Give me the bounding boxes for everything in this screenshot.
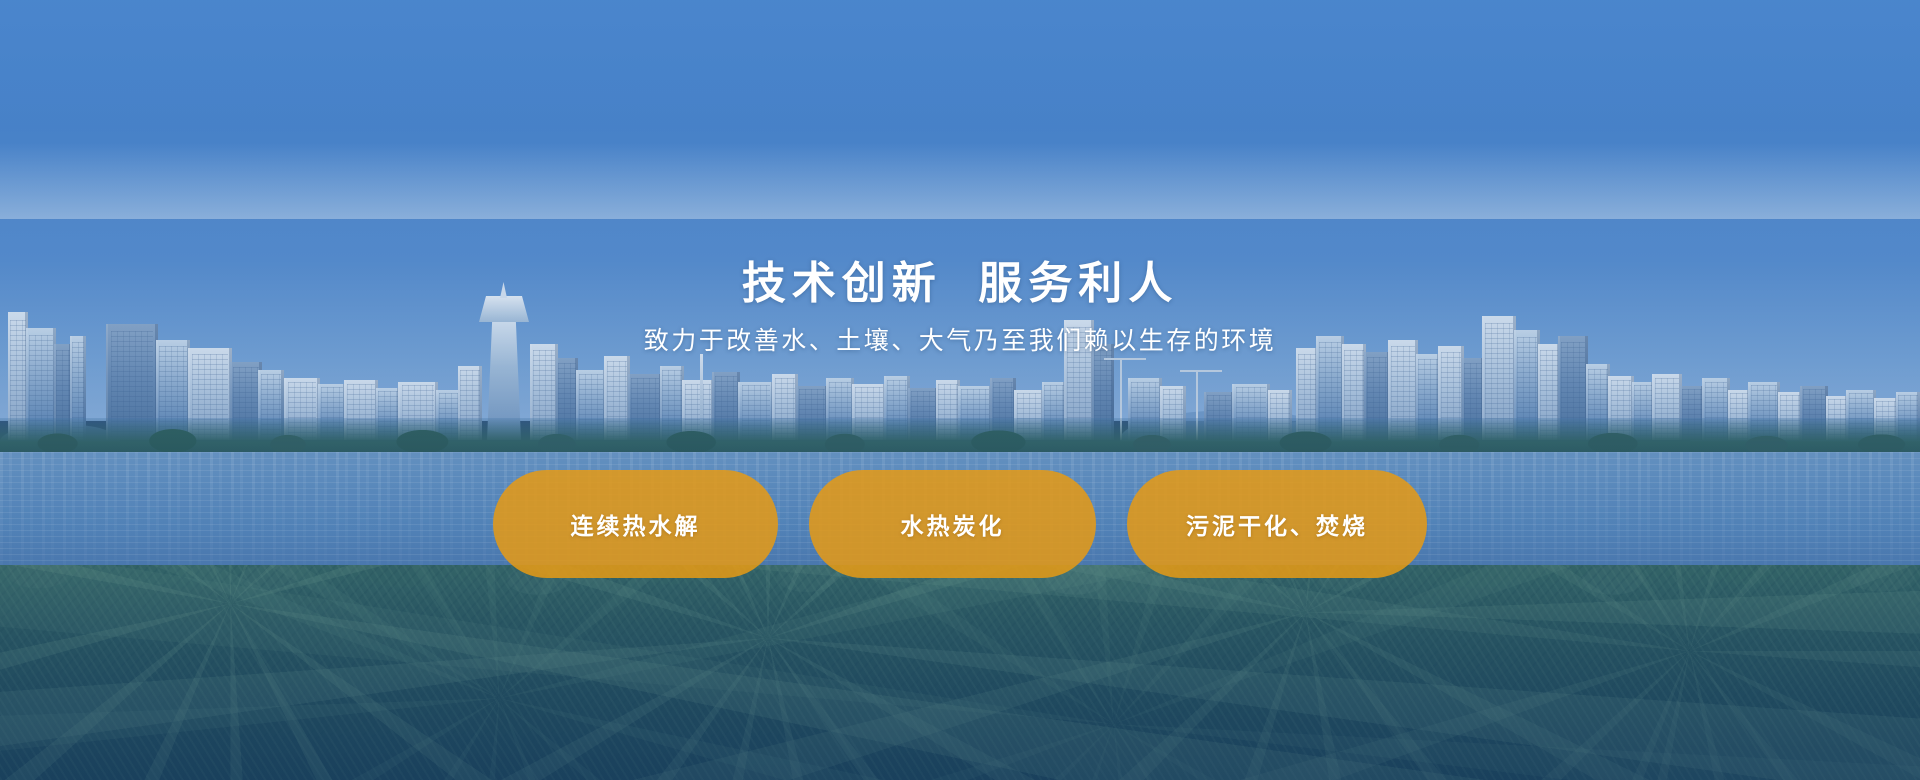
landmark-tower-cap — [479, 296, 529, 322]
cta-button-label: 水热炭化 — [901, 507, 1005, 541]
landmark-tower-spire — [500, 282, 507, 298]
foreground-canopy-layer — [0, 565, 1920, 780]
cta-button-label: 连续热水解 — [571, 507, 701, 541]
cta-button-hydrothermal-carbonization[interactable]: 水热炭化 — [809, 470, 1096, 578]
cta-button-sludge-drying-incineration[interactable]: 污泥干化、焚烧 — [1127, 470, 1427, 578]
city-skyline-layer — [0, 240, 1920, 440]
cta-button-label: 污泥干化、焚烧 — [1186, 507, 1368, 541]
sky-haze — [0, 143, 1920, 219]
canopy-shading — [0, 565, 1920, 780]
cta-button-continuous-thermal-hydrolysis[interactable]: 连续热水解 — [493, 470, 778, 578]
hero-banner: 技术创新 服务利人 致力于改善水、土壤、大气乃至我们赖以生存的环境 连续热水解 … — [0, 0, 1920, 780]
hero-cta-row: 连续热水解 水热炭化 污泥干化、焚烧 — [0, 470, 1920, 578]
